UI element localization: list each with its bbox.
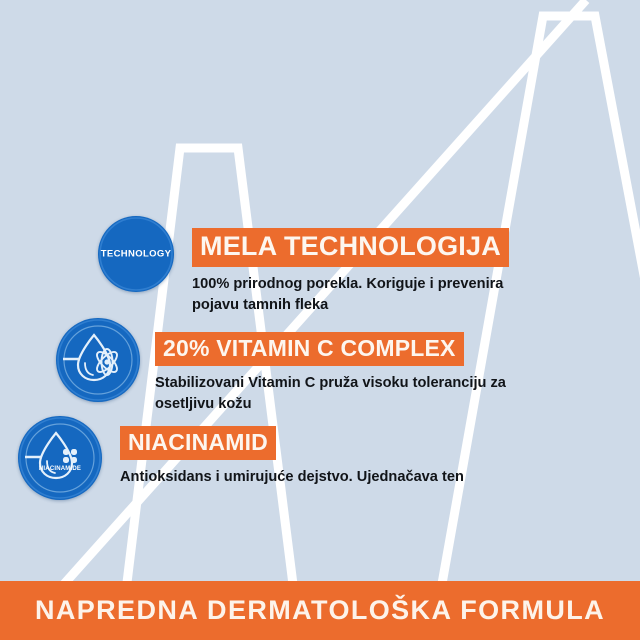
badge-label: TECHNOLOGY <box>98 249 174 260</box>
feature-heading: NIACINAMID <box>120 426 276 460</box>
feature-heading: MELA TECHNOLOGIJA <box>192 228 509 267</box>
bottom-banner: NAPREDNA DERMATOLOŠKA FORMULA <box>0 581 640 640</box>
droplet-molecule-icon <box>56 318 140 402</box>
droplet-niacinamide-icon: NIACINAMIDE <box>18 416 102 500</box>
feature-text-column: MELA TECHNOLOGIJA 100% prirodnog porekla… <box>192 228 509 315</box>
feature-row-niacinamid: NIACINAMIDE NIACINAMID Antioksidans i um… <box>18 416 464 500</box>
technology-badge-icon: TECHNOLOGY <box>98 216 174 292</box>
feature-text-column: 20% VITAMIN C COMPLEX Stabilizovani Vita… <box>155 332 506 414</box>
feature-row-mela-technologija: TECHNOLOGY MELA TECHNOLOGIJA 100% prirod… <box>98 216 509 315</box>
feature-description: 100% prirodnog porekla. Koriguje i preve… <box>192 274 503 315</box>
product-feature-poster: TECHNOLOGY MELA TECHNOLOGIJA 100% prirod… <box>0 0 640 640</box>
feature-description: Stabilizovani Vitamin C pruža visoku tol… <box>155 373 506 414</box>
feature-heading: 20% VITAMIN C COMPLEX <box>155 332 464 366</box>
feature-row-vitamin-c: 20% VITAMIN C COMPLEX Stabilizovani Vita… <box>56 318 506 414</box>
feature-text-column: NIACINAMID Antioksidans i umirujuće dejs… <box>120 426 464 488</box>
feature-description: Antioksidans i umirujuće dejstvo. Ujedna… <box>120 467 464 488</box>
banner-title: NAPREDNA DERMATOLOŠKA FORMULA <box>35 595 605 626</box>
badge-label: NIACINAMIDE <box>18 466 102 472</box>
